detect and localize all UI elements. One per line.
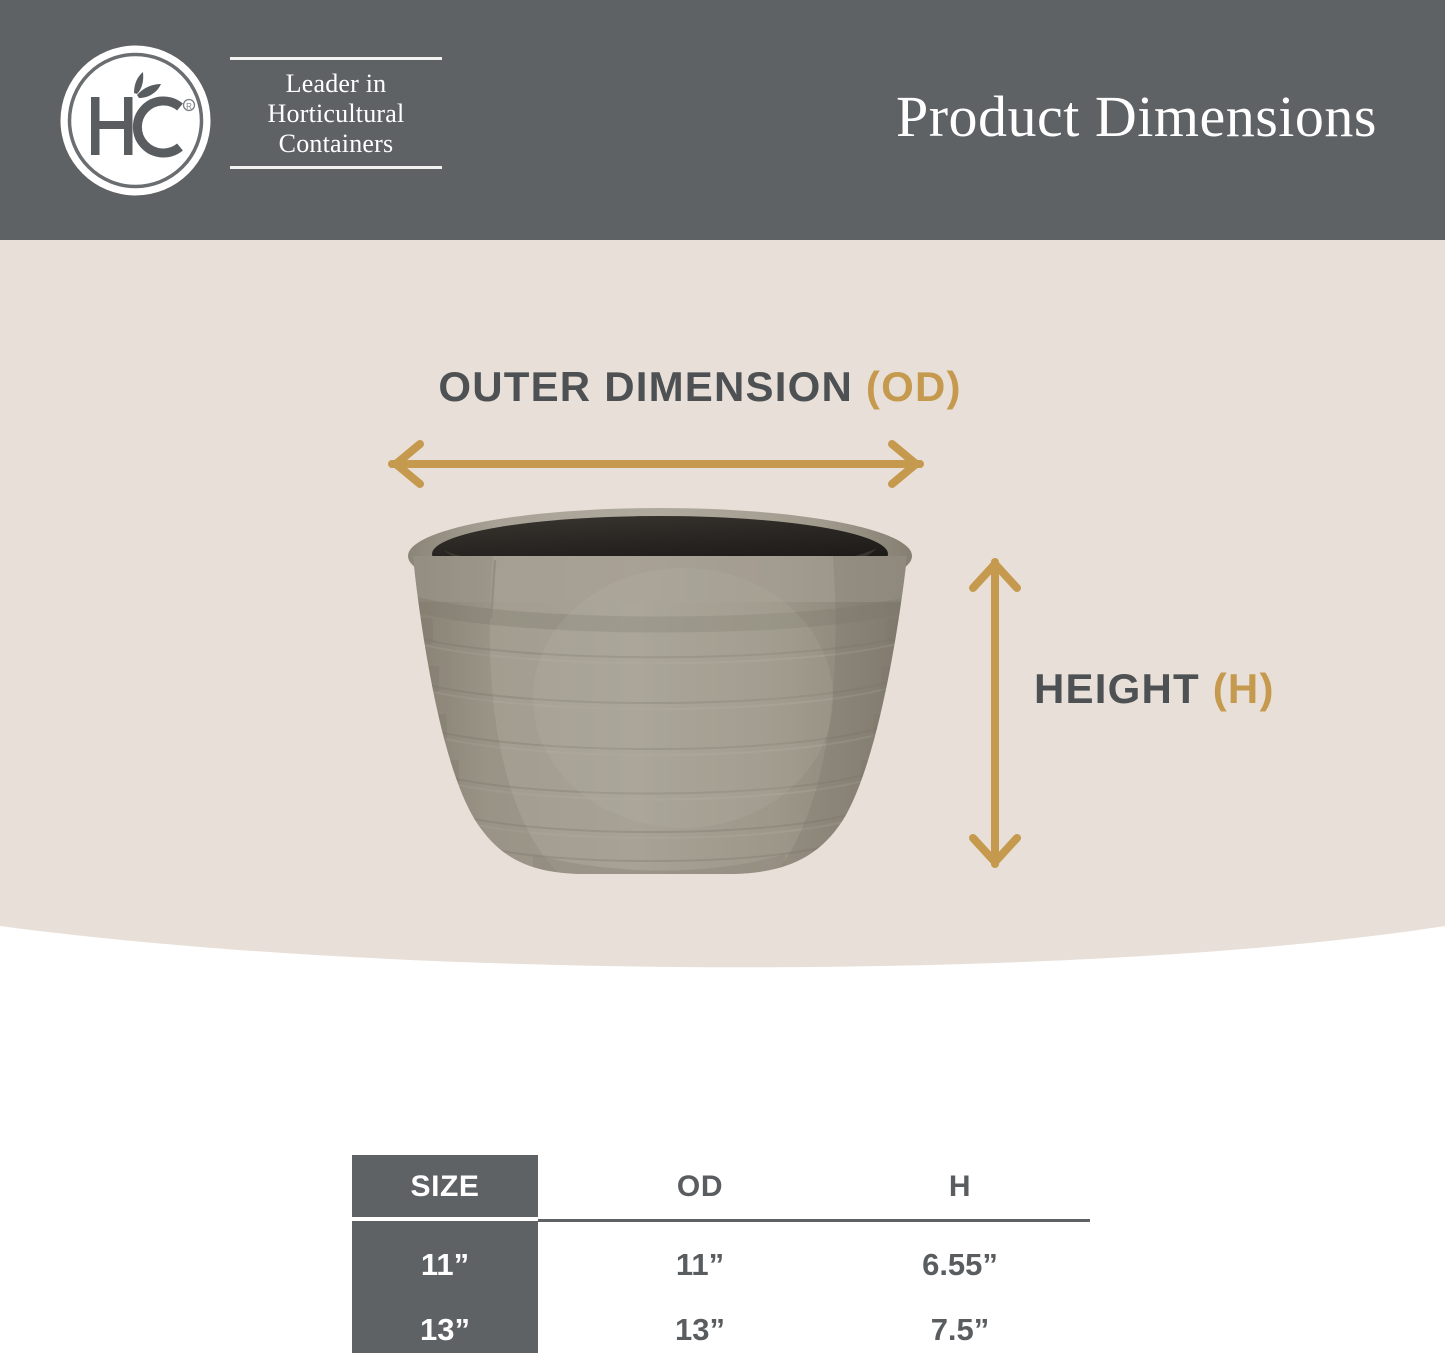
brand-tagline: Leader in Horticultural Containers bbox=[230, 57, 442, 169]
table-header-h: H bbox=[830, 1170, 1090, 1204]
height-label: HEIGHT (H) bbox=[1034, 665, 1275, 713]
table-row: 7.5” bbox=[830, 1312, 1090, 1348]
table-row: 13” bbox=[352, 1312, 538, 1348]
table-row: 11” bbox=[352, 1247, 538, 1283]
od-label-abbrev: (OD) bbox=[866, 363, 962, 410]
table-row: 13” bbox=[570, 1312, 830, 1348]
tagline-line-3: Containers bbox=[230, 129, 442, 159]
table-row: 11” bbox=[570, 1247, 830, 1283]
table-row: 6.55” bbox=[830, 1247, 1090, 1283]
svg-text:R: R bbox=[186, 102, 192, 111]
od-label-main: OUTER DIMENSION bbox=[438, 363, 866, 410]
planter-product-image bbox=[383, 498, 939, 883]
hc-logo-icon: R bbox=[58, 43, 213, 198]
height-label-main: HEIGHT bbox=[1034, 665, 1213, 712]
brand-logo-lockup: R Leader in Horticultural Containers bbox=[58, 43, 398, 198]
table-header-size: SIZE bbox=[352, 1170, 538, 1204]
tagline-line-1: Leader in bbox=[230, 69, 442, 99]
height-arrow-icon bbox=[963, 548, 1027, 878]
tagline-rule-bottom bbox=[230, 166, 442, 169]
page-title: Product Dimensions bbox=[896, 83, 1377, 150]
header-bar: R Leader in Horticultural Containers Pro… bbox=[0, 0, 1445, 240]
table-header-divider bbox=[538, 1219, 1090, 1222]
dimensions-table: SIZE OD H 11” 11” 6.55” 13” 13” 7.5” bbox=[352, 1155, 1092, 1353]
height-label-abbrev: (H) bbox=[1213, 665, 1275, 712]
outer-dimension-label: OUTER DIMENSION (OD) bbox=[0, 363, 1400, 411]
outer-dimension-arrow-icon bbox=[378, 440, 934, 488]
table-header-od: OD bbox=[570, 1170, 830, 1204]
tagline-line-2: Horticultural bbox=[230, 99, 442, 129]
